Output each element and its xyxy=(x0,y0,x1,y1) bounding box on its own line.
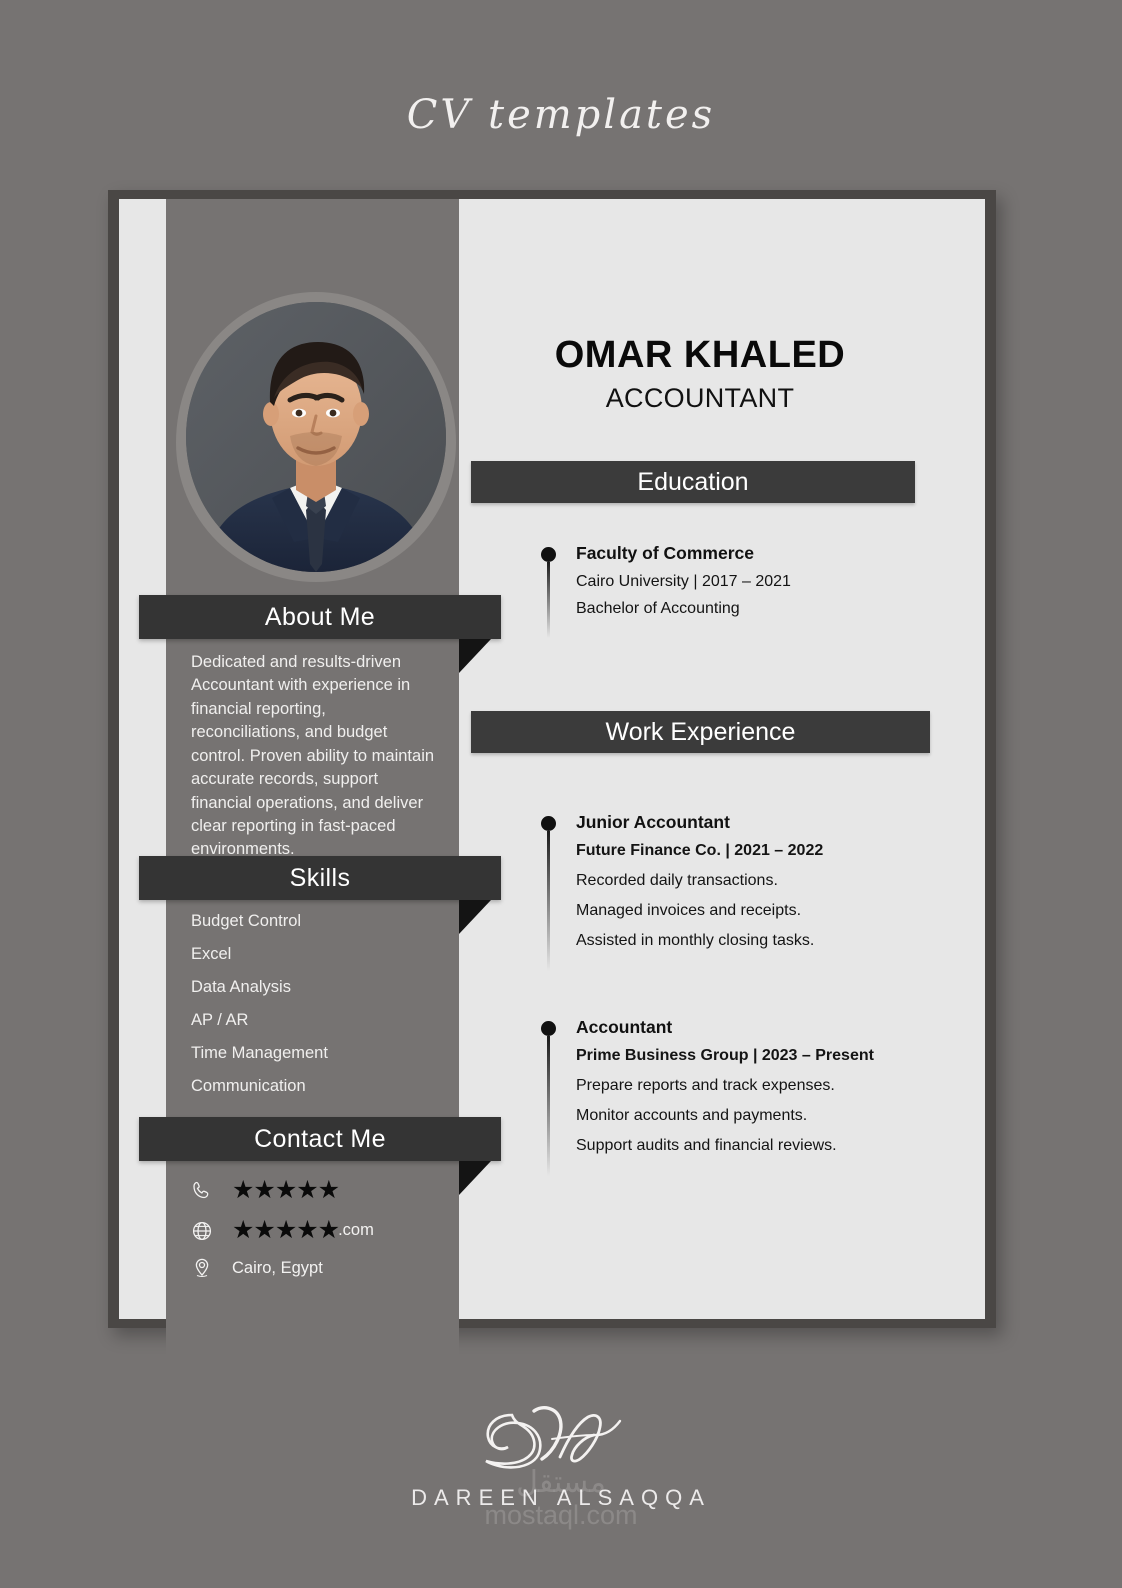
portrait-illustration xyxy=(186,302,446,572)
job-title: Accountant xyxy=(576,1017,931,1038)
list-item: Time Management xyxy=(191,1044,441,1063)
candidate-role: ACCOUNTANT xyxy=(470,383,930,414)
list-item: Budget Control xyxy=(191,912,441,931)
education-heading-bar: Education xyxy=(471,461,915,503)
email-suffix: .com xyxy=(338,1221,374,1240)
timeline-line xyxy=(547,562,550,638)
timeline-dot xyxy=(541,547,556,562)
list-item: Communication xyxy=(191,1077,441,1096)
job-bullet: Prepare reports and track expenses. xyxy=(576,1077,931,1095)
avatar xyxy=(176,292,456,582)
contact-me-heading-banner: Contact Me xyxy=(139,1117,501,1161)
cv-template-canvas: CV templates xyxy=(0,0,1122,1588)
job-bullet: Managed invoices and receipts. xyxy=(576,902,931,920)
job-bullet: Support audits and financial reviews. xyxy=(576,1137,931,1155)
globe-icon xyxy=(190,1219,214,1243)
contact-row-phone[interactable]: ★★★★★ xyxy=(190,1178,338,1203)
about-me-text: Dedicated and results-driven Accountant … xyxy=(191,651,437,862)
brand-footer: DAREEN ALSAQQA xyxy=(0,1395,1122,1511)
phone-icon xyxy=(190,1179,214,1203)
job-bullet: Recorded daily transactions. xyxy=(576,872,931,890)
sidebar-column-overhang xyxy=(166,1319,459,1389)
avatar-image xyxy=(186,302,446,572)
job-company: Prime Business Group | 2023 – Present xyxy=(576,1047,931,1065)
job-bullet: Monitor accounts and payments. xyxy=(576,1107,931,1125)
timeline-line xyxy=(547,1036,550,1176)
timeline-dot xyxy=(541,1021,556,1036)
education-subtitle: Cairo University | 2017 – 2021 xyxy=(576,573,921,591)
about-me-heading: About Me xyxy=(265,603,375,632)
job-title: Junior Accountant xyxy=(576,812,931,833)
timeline-line xyxy=(547,831,550,971)
work-experience-heading: Work Experience xyxy=(606,718,796,747)
education-entry: Faculty of Commerce Cairo University | 2… xyxy=(541,543,921,618)
education-heading: Education xyxy=(637,468,748,497)
job-company: Future Finance Co. | 2021 – 2022 xyxy=(576,842,931,860)
education-title: Faculty of Commerce xyxy=(576,543,921,564)
location-value: Cairo, Egypt xyxy=(232,1259,323,1278)
da-monogram-icon xyxy=(456,1395,666,1479)
list-item: AP / AR xyxy=(191,1011,441,1030)
location-pin-icon xyxy=(190,1256,214,1280)
timeline-dot xyxy=(541,816,556,831)
phone-value-redacted: ★★★★★ xyxy=(232,1178,338,1203)
work-entry: Accountant Prime Business Group | 2023 –… xyxy=(541,1017,931,1155)
email-value-redacted: ★★★★★.com xyxy=(232,1218,374,1243)
job-bullet: Assisted in monthly closing tasks. xyxy=(576,932,931,950)
list-item: Data Analysis xyxy=(191,978,441,997)
contact-row-email[interactable]: ★★★★★.com xyxy=(190,1218,374,1243)
about-me-heading-banner: About Me xyxy=(139,595,501,639)
education-detail: Bachelor of Accounting xyxy=(576,600,921,618)
contact-row-location[interactable]: Cairo, Egypt xyxy=(190,1256,323,1280)
brand-name: DAREEN ALSAQQA xyxy=(0,1485,1122,1511)
contact-me-heading: Contact Me xyxy=(254,1125,386,1154)
work-experience-heading-bar: Work Experience xyxy=(471,711,930,753)
page-title: CV templates xyxy=(0,92,1122,138)
skills-heading: Skills xyxy=(290,864,351,893)
skills-heading-banner: Skills xyxy=(139,856,501,900)
candidate-name: OMAR KHALED xyxy=(470,334,930,377)
skills-list: Budget Control Excel Data Analysis AP / … xyxy=(191,912,441,1110)
work-entry: Junior Accountant Future Finance Co. | 2… xyxy=(541,812,931,950)
list-item: Excel xyxy=(191,945,441,964)
